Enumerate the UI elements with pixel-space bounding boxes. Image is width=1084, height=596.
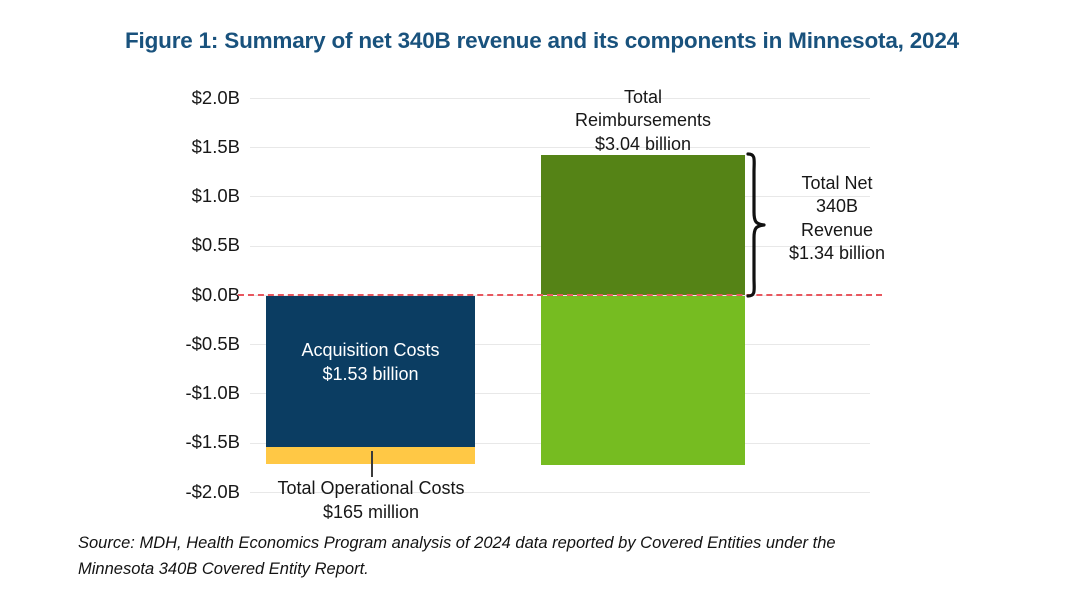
data-label-reimbursements-value: $3.04 billion <box>523 133 763 156</box>
y-axis-label-neg2.0B: -$2.0B <box>160 483 240 502</box>
y-axis-label-0.0B: $0.0B <box>160 286 240 305</box>
bar-total-reimbursements-below-zero <box>541 296 745 465</box>
chart-canvas: $2.0B $1.5B $1.0B $0.5B $0.0B -$0.5B -$1… <box>0 0 1084 520</box>
y-axis-label-1.5B: $1.5B <box>160 138 240 157</box>
data-label-reimbursements-line1: Total <box>523 86 763 109</box>
zero-reference-line <box>238 294 882 296</box>
bar-total-reimbursements-above-zero <box>541 155 745 295</box>
data-label-acquisition-costs-value: $1.53 billion <box>266 363 475 387</box>
y-axis-label-neg1.5B: -$1.5B <box>160 433 240 452</box>
source-note-line-1: Source: MDH, Health Economics Program an… <box>78 531 998 557</box>
data-label-operational-costs-name: Total Operational Costs <box>232 477 510 501</box>
annotation-net-revenue-line2: 340B <box>762 195 912 218</box>
annotation-net-revenue-line1: Total Net <box>762 172 912 195</box>
data-label-reimbursements-line2: Reimbursements <box>523 109 763 132</box>
y-axis-label-neg0.5B: -$0.5B <box>160 335 240 354</box>
annotation-total-net-340b-revenue: Total Net 340B Revenue $1.34 billion <box>762 172 912 266</box>
data-label-total-operational-costs: Total Operational Costs $165 million <box>232 477 510 525</box>
source-note: Source: MDH, Health Economics Program an… <box>78 531 998 582</box>
data-label-acquisition-costs: Acquisition Costs $1.53 billion <box>266 339 475 387</box>
data-label-operational-costs-value: $165 million <box>232 501 510 525</box>
annotation-net-revenue-value: $1.34 billion <box>762 242 912 265</box>
y-axis-label-neg1.0B: -$1.0B <box>160 384 240 403</box>
leader-line-operational-costs <box>371 451 373 477</box>
y-axis-label-2.0B: $2.0B <box>160 89 240 108</box>
data-label-total-reimbursements: Total Reimbursements $3.04 billion <box>523 86 763 156</box>
annotation-net-revenue-line3: Revenue <box>762 219 912 242</box>
y-axis-label-0.5B: $0.5B <box>160 236 240 255</box>
source-note-line-2: Minnesota 340B Covered Entity Report. <box>78 557 998 583</box>
data-label-acquisition-costs-name: Acquisition Costs <box>266 339 475 363</box>
y-axis-label-1.0B: $1.0B <box>160 187 240 206</box>
